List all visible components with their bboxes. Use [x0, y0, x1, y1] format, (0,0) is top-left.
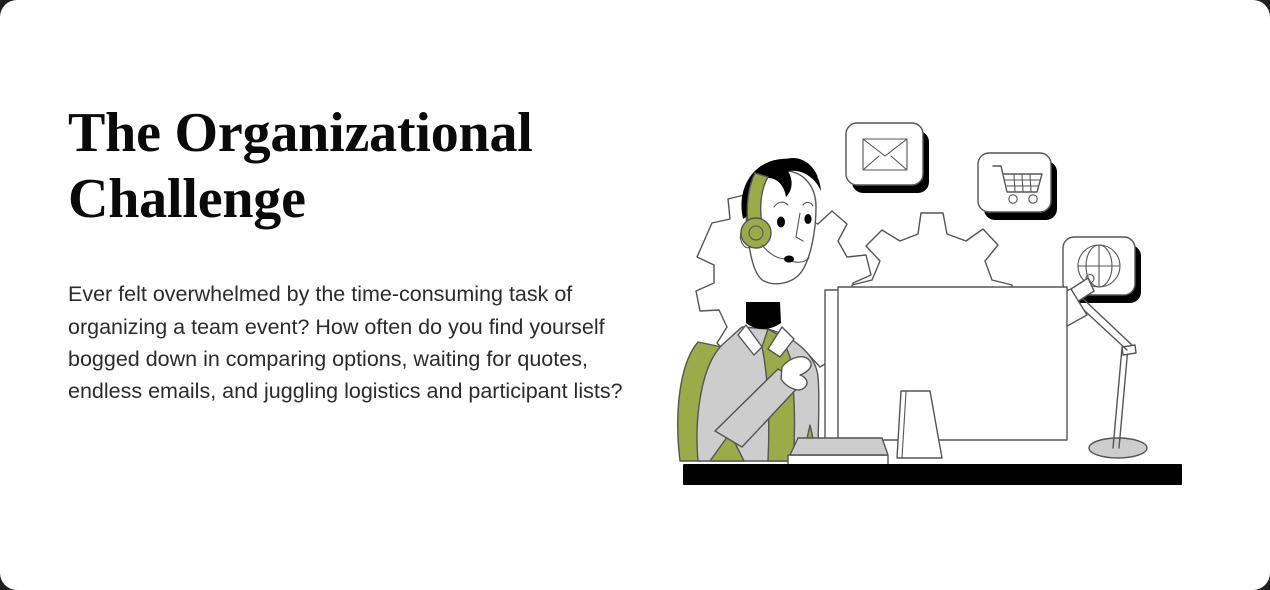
keyboard: [788, 438, 888, 466]
desk-surface: [683, 464, 1182, 485]
support-agent-illustration: .ln { fill:none; stroke:#555; stroke-wid…: [650, 95, 1195, 495]
monitor: [825, 287, 1067, 440]
illustration-container: .ln { fill:none; stroke:#555; stroke-wid…: [650, 95, 1195, 495]
body-paragraph: Ever felt overwhelmed by the time-consum…: [68, 278, 648, 408]
slide-canvas: The Organizational Challenge Ever felt o…: [0, 0, 1270, 590]
page-title: The Organizational Challenge: [68, 100, 588, 232]
card-email-icon: [846, 123, 929, 193]
card-cart-icon: [978, 153, 1057, 220]
text-column: The Organizational Challenge Ever felt o…: [68, 100, 658, 408]
